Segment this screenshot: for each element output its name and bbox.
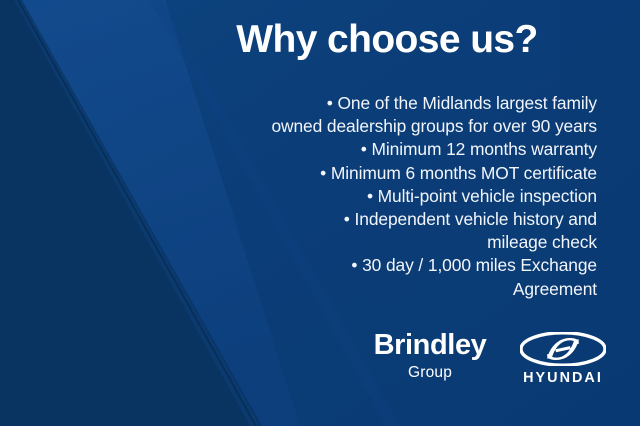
list-item: • Multi-point vehicle inspection [172, 185, 597, 208]
list-item: owned dealership groups for over 90 year… [172, 115, 597, 138]
list-item: • Minimum 12 months warranty [172, 138, 597, 161]
hyundai-logo: HYUNDAI [510, 332, 616, 386]
hyundai-wordmark: HYUNDAI [512, 369, 614, 386]
list-item: Agreement [172, 278, 597, 301]
list-item: • Minimum 6 months MOT certificate [172, 162, 597, 185]
brindley-group-logo: Brindley Group [366, 330, 494, 383]
promo-slide: Why choose us? • One of the Midlands lar… [0, 0, 640, 426]
hyundai-h-ellipse-icon [520, 332, 606, 366]
list-item: mileage check [172, 231, 597, 254]
page-title: Why choose us? [177, 17, 597, 63]
logo-row: Brindley Group HYUNDAI [366, 330, 616, 396]
brindley-wordmark: Brindley [366, 330, 494, 361]
slide-content: Why choose us? • One of the Midlands lar… [0, 0, 640, 426]
benefits-list: • One of the Midlands largest family own… [172, 92, 597, 301]
list-item: • 30 day / 1,000 miles Exchange [172, 254, 597, 277]
list-item: • One of the Midlands largest family [172, 92, 597, 115]
brindley-sub-wordmark: Group [366, 363, 494, 383]
list-item: • Independent vehicle history and [172, 208, 597, 231]
